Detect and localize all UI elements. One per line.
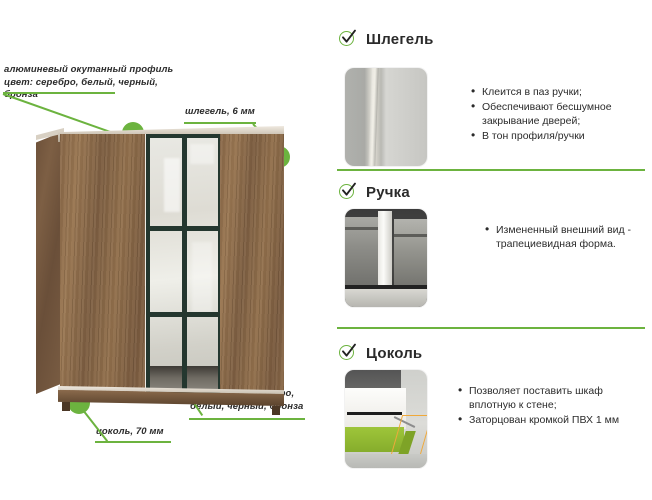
callout-label-plinth: цоколь, 70 мм: [96, 426, 246, 439]
check-circle-icon: [338, 344, 357, 363]
feature-header-plinth: Цоколь: [338, 344, 422, 363]
bullet-item: Заторцован кромкой ПВХ 1 мм: [458, 413, 648, 427]
wardrobe-door-mirror: [146, 134, 222, 396]
feature-thumbnail-shlegel: [345, 68, 427, 166]
check-circle-icon: [338, 30, 357, 49]
feature-section-shlegel: Шлегель Клеится в паз ручки; Обеспечиваю…: [330, 0, 652, 170]
bullet-item: Измененный внешний вид - трапециевидная …: [485, 223, 645, 251]
feature-header-handle: Ручка: [338, 183, 410, 202]
bullet-item: В тон профиля/ручки: [471, 129, 639, 143]
feature-thumbnail-handle: [345, 209, 427, 307]
callout-underline-profile: [3, 92, 115, 94]
check-circle-icon: [338, 183, 357, 202]
bullet-item: Обеспечивают бесшумное закрывание дверей…: [471, 100, 639, 128]
wardrobe-body: [60, 134, 284, 396]
wardrobe-door-left: [60, 134, 148, 396]
shlegel-seam-detail: [369, 68, 379, 166]
mirror-frame: [146, 134, 222, 396]
callout-underline-handles: [189, 418, 305, 420]
wardrobe-graphic: [36, 118, 286, 410]
wardrobe-left-side-panel: [36, 132, 62, 394]
wardrobe-illustration-panel: алюминевый окутанный профиль цвет: сереб…: [0, 0, 330, 500]
features-panel: Шлегель Клеится в паз ручки; Обеспечиваю…: [330, 0, 652, 500]
wardrobe-foot-right: [272, 406, 280, 415]
callout-label-profile: алюминевый окутанный профиль цвет: сереб…: [4, 64, 194, 102]
feature-thumbnail-plinth: [345, 370, 427, 468]
feature-header-shlegel: Шлегель: [338, 30, 434, 49]
feature-section-plinth: Цоколь Позволяет поставить шкаф вплотную…: [330, 328, 652, 500]
feature-title-shlegel: Шлегель: [366, 31, 434, 48]
wardrobe-foot-left: [62, 402, 70, 411]
feature-section-handle: Ручка Измененный внешний вид - трапециев…: [330, 170, 652, 328]
handle-profile-detail: [378, 211, 392, 291]
feature-title-plinth: Цоколь: [366, 345, 422, 362]
feature-bullets-plinth: Позволяет поставить шкаф вплотную к стен…: [458, 384, 648, 428]
feature-title-handle: Ручка: [366, 184, 410, 201]
wardrobe-door-right: [220, 134, 284, 396]
callout-label-shlegel: шлегель, 6 мм: [185, 106, 315, 119]
wardrobe-feature-infographic: алюминевый окутанный профиль цвет: сереб…: [0, 0, 652, 500]
bullet-item: Клеится в паз ручки;: [471, 85, 639, 99]
bullet-item: Позволяет поставить шкаф вплотную к стен…: [458, 384, 648, 412]
feature-bullets-shlegel: Клеится в паз ручки; Обеспечивают бесшум…: [471, 85, 639, 144]
feature-bullets-handle: Измененный внешний вид - трапециевидная …: [485, 223, 645, 252]
